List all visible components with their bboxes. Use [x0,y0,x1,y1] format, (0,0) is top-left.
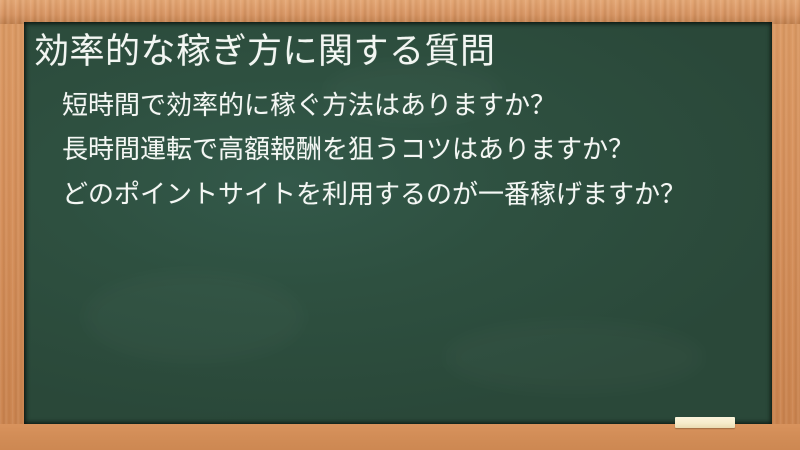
board-content: 効率的な稼ぎ方に関する質問 短時間で効率的に稼ぐ方法はありますか？ 長時間運転で… [24,22,772,424]
question-list: 短時間で効率的に稼ぐ方法はありますか？ 長時間運転で高額報酬を狙うコツはあります… [30,89,758,213]
page-title: 効率的な稼ぎ方に関する質問 [34,32,758,73]
list-item: 短時間で効率的に稼ぐ方法はありますか？ [60,89,720,124]
frame-rail-right [776,0,800,450]
frame-rail-top [0,0,800,24]
list-item: どのポイントサイトを利用するのが一番稼げますか？ [60,178,720,213]
chalkboard-slide: 効率的な稼ぎ方に関する質問 短時間で効率的に稼ぐ方法はありますか？ 長時間運転で… [0,0,800,450]
chalkboard-surface: 効率的な稼ぎ方に関する質問 短時間で効率的に稼ぐ方法はありますか？ 長時間運転で… [24,22,772,424]
chalk-stick-icon [675,417,735,428]
list-item: 長時間運転で高額報酬を狙うコツはありますか？ [60,133,720,168]
frame-rail-left [0,0,24,450]
